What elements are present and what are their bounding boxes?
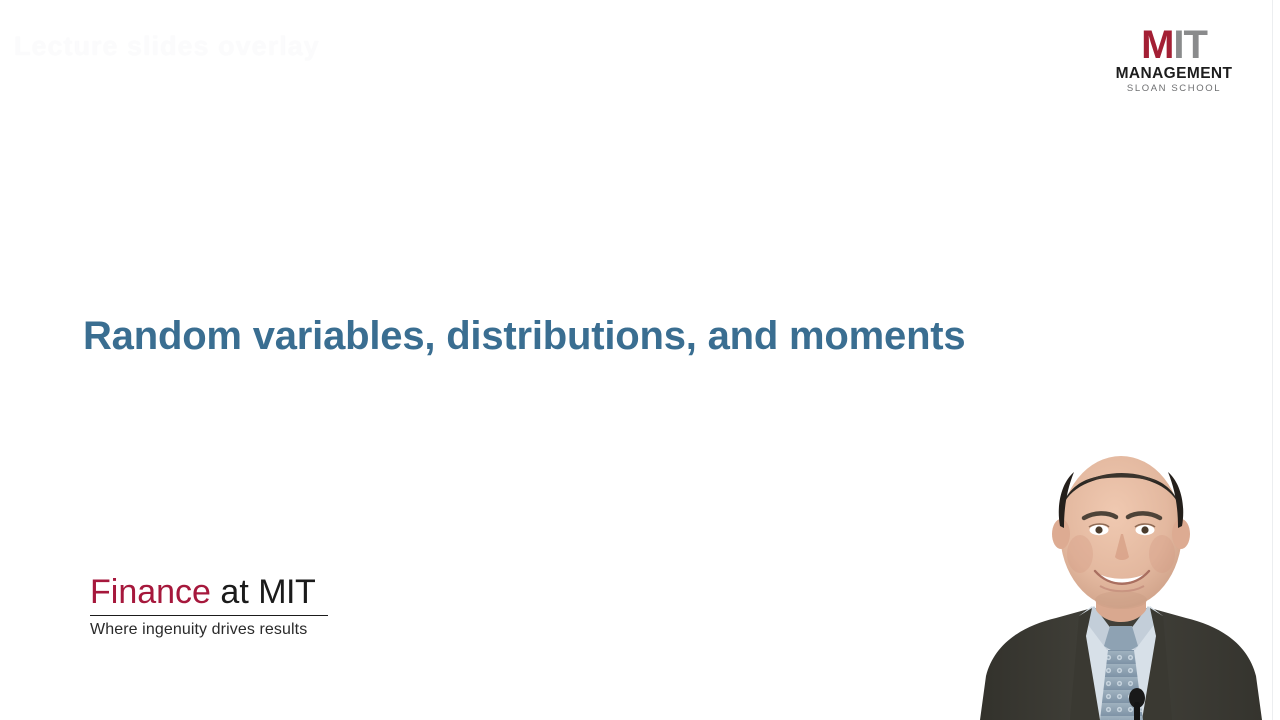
slide-title: Random variables, distributions, and mom… [83, 313, 965, 359]
mit-management-logo: MIT MANAGEMENT SLOAN SCHOOL [1100, 26, 1248, 94]
finance-word: Finance [90, 573, 211, 611]
presenter-face [1060, 456, 1182, 608]
mit-sloan-school-word: SLOAN SCHOOL [1100, 84, 1248, 94]
presenter-video-overlay [960, 430, 1280, 720]
presenter-eye-right [1141, 526, 1148, 533]
mit-word: MIT [258, 573, 315, 611]
mit-m-letter: M [1141, 23, 1173, 67]
frame-edge-line [1272, 0, 1273, 720]
mit-it-letters: IT [1173, 23, 1207, 67]
presenter-eye-left [1095, 526, 1102, 533]
finance-at-mit-wordmark: Finance at MIT [90, 575, 330, 611]
finance-logo-tagline: Where ingenuity drives results [90, 621, 330, 639]
ghost-watermark: Lecture slides overlay [14, 26, 379, 66]
finance-logo-divider [90, 615, 328, 617]
finance-at-mit-logo: Finance at MIT Where ingenuity drives re… [90, 575, 330, 639]
lecture-slide: Lecture slides overlay MIT MANAGEMENT SL… [0, 0, 1280, 720]
at-word: at [220, 573, 248, 611]
mit-management-word: MANAGEMENT [1100, 66, 1248, 82]
mit-wordmark: MIT [1100, 26, 1248, 64]
presenter-portrait [960, 430, 1280, 720]
